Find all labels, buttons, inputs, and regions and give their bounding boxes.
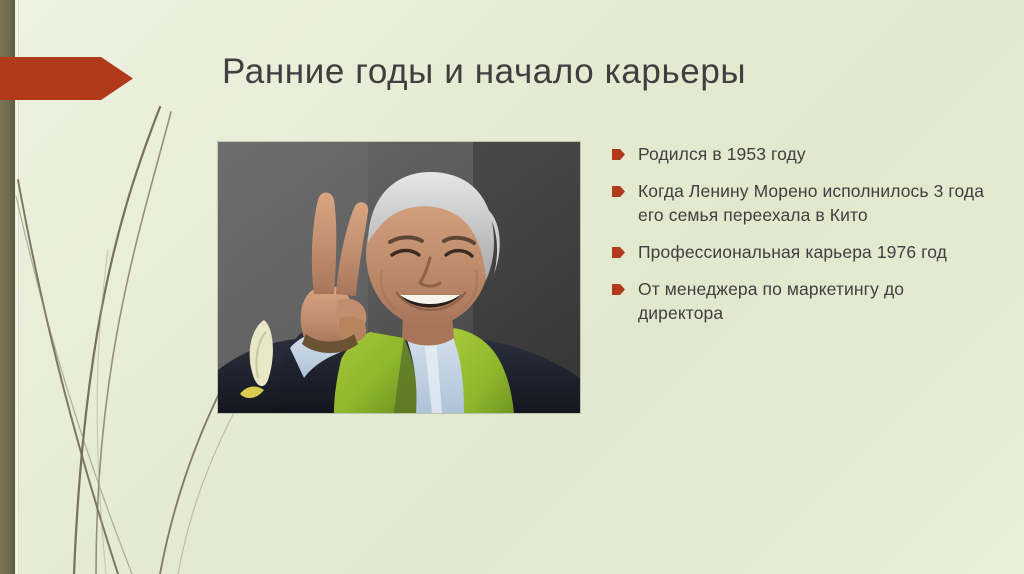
list-item-label: Профессиональная карьера 1976 год xyxy=(638,240,947,264)
arrow-bullet-icon xyxy=(612,149,625,160)
list-item: Родился в 1953 году xyxy=(612,142,992,166)
arrow-bullet-icon xyxy=(612,284,625,295)
slide-photo xyxy=(218,142,580,413)
title-accent-arrow xyxy=(0,57,133,100)
photo-illustration xyxy=(218,142,580,413)
list-item: Профессиональная карьера 1976 год xyxy=(612,240,992,264)
slide-title: Ранние годы и начало карьеры xyxy=(222,52,992,92)
bullet-list: Родился в 1953 году Когда Ленину Морено … xyxy=(612,142,992,338)
list-item: От менеджера по маркетингу до директора xyxy=(612,277,992,325)
list-item-label: Когда Ленину Морено исполнилось 3 года е… xyxy=(638,179,992,227)
presentation-slide: Ранние годы и начало карьеры xyxy=(0,0,1024,574)
arrow-bullet-icon xyxy=(612,247,625,258)
arrow-bullet-icon xyxy=(612,186,625,197)
list-item: Когда Ленину Морено исполнилось 3 года е… xyxy=(612,179,992,227)
list-item-label: От менеджера по маркетингу до директора xyxy=(638,277,992,325)
list-item-label: Родился в 1953 году xyxy=(638,142,806,166)
